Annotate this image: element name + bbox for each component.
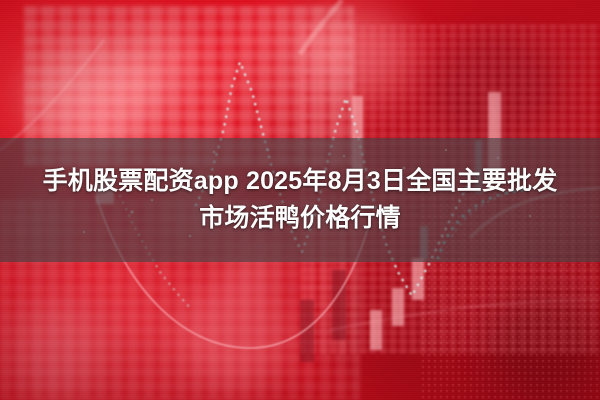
hero-banner-image: 手机股票配资app 2025年8月3日全国主要批发 市场活鸭价格行情	[0, 0, 600, 400]
headline-text-block: 手机股票配资app 2025年8月3日全国主要批发 市场活鸭价格行情	[0, 138, 600, 262]
descending-trend-line	[330, 300, 600, 330]
rising-trend-line	[0, 40, 104, 150]
light-streak	[300, 0, 342, 54]
headline-line-1: 手机股票配资app 2025年8月3日全国主要批发	[43, 167, 558, 197]
headline-line-2: 市场活鸭价格行情	[199, 204, 401, 234]
